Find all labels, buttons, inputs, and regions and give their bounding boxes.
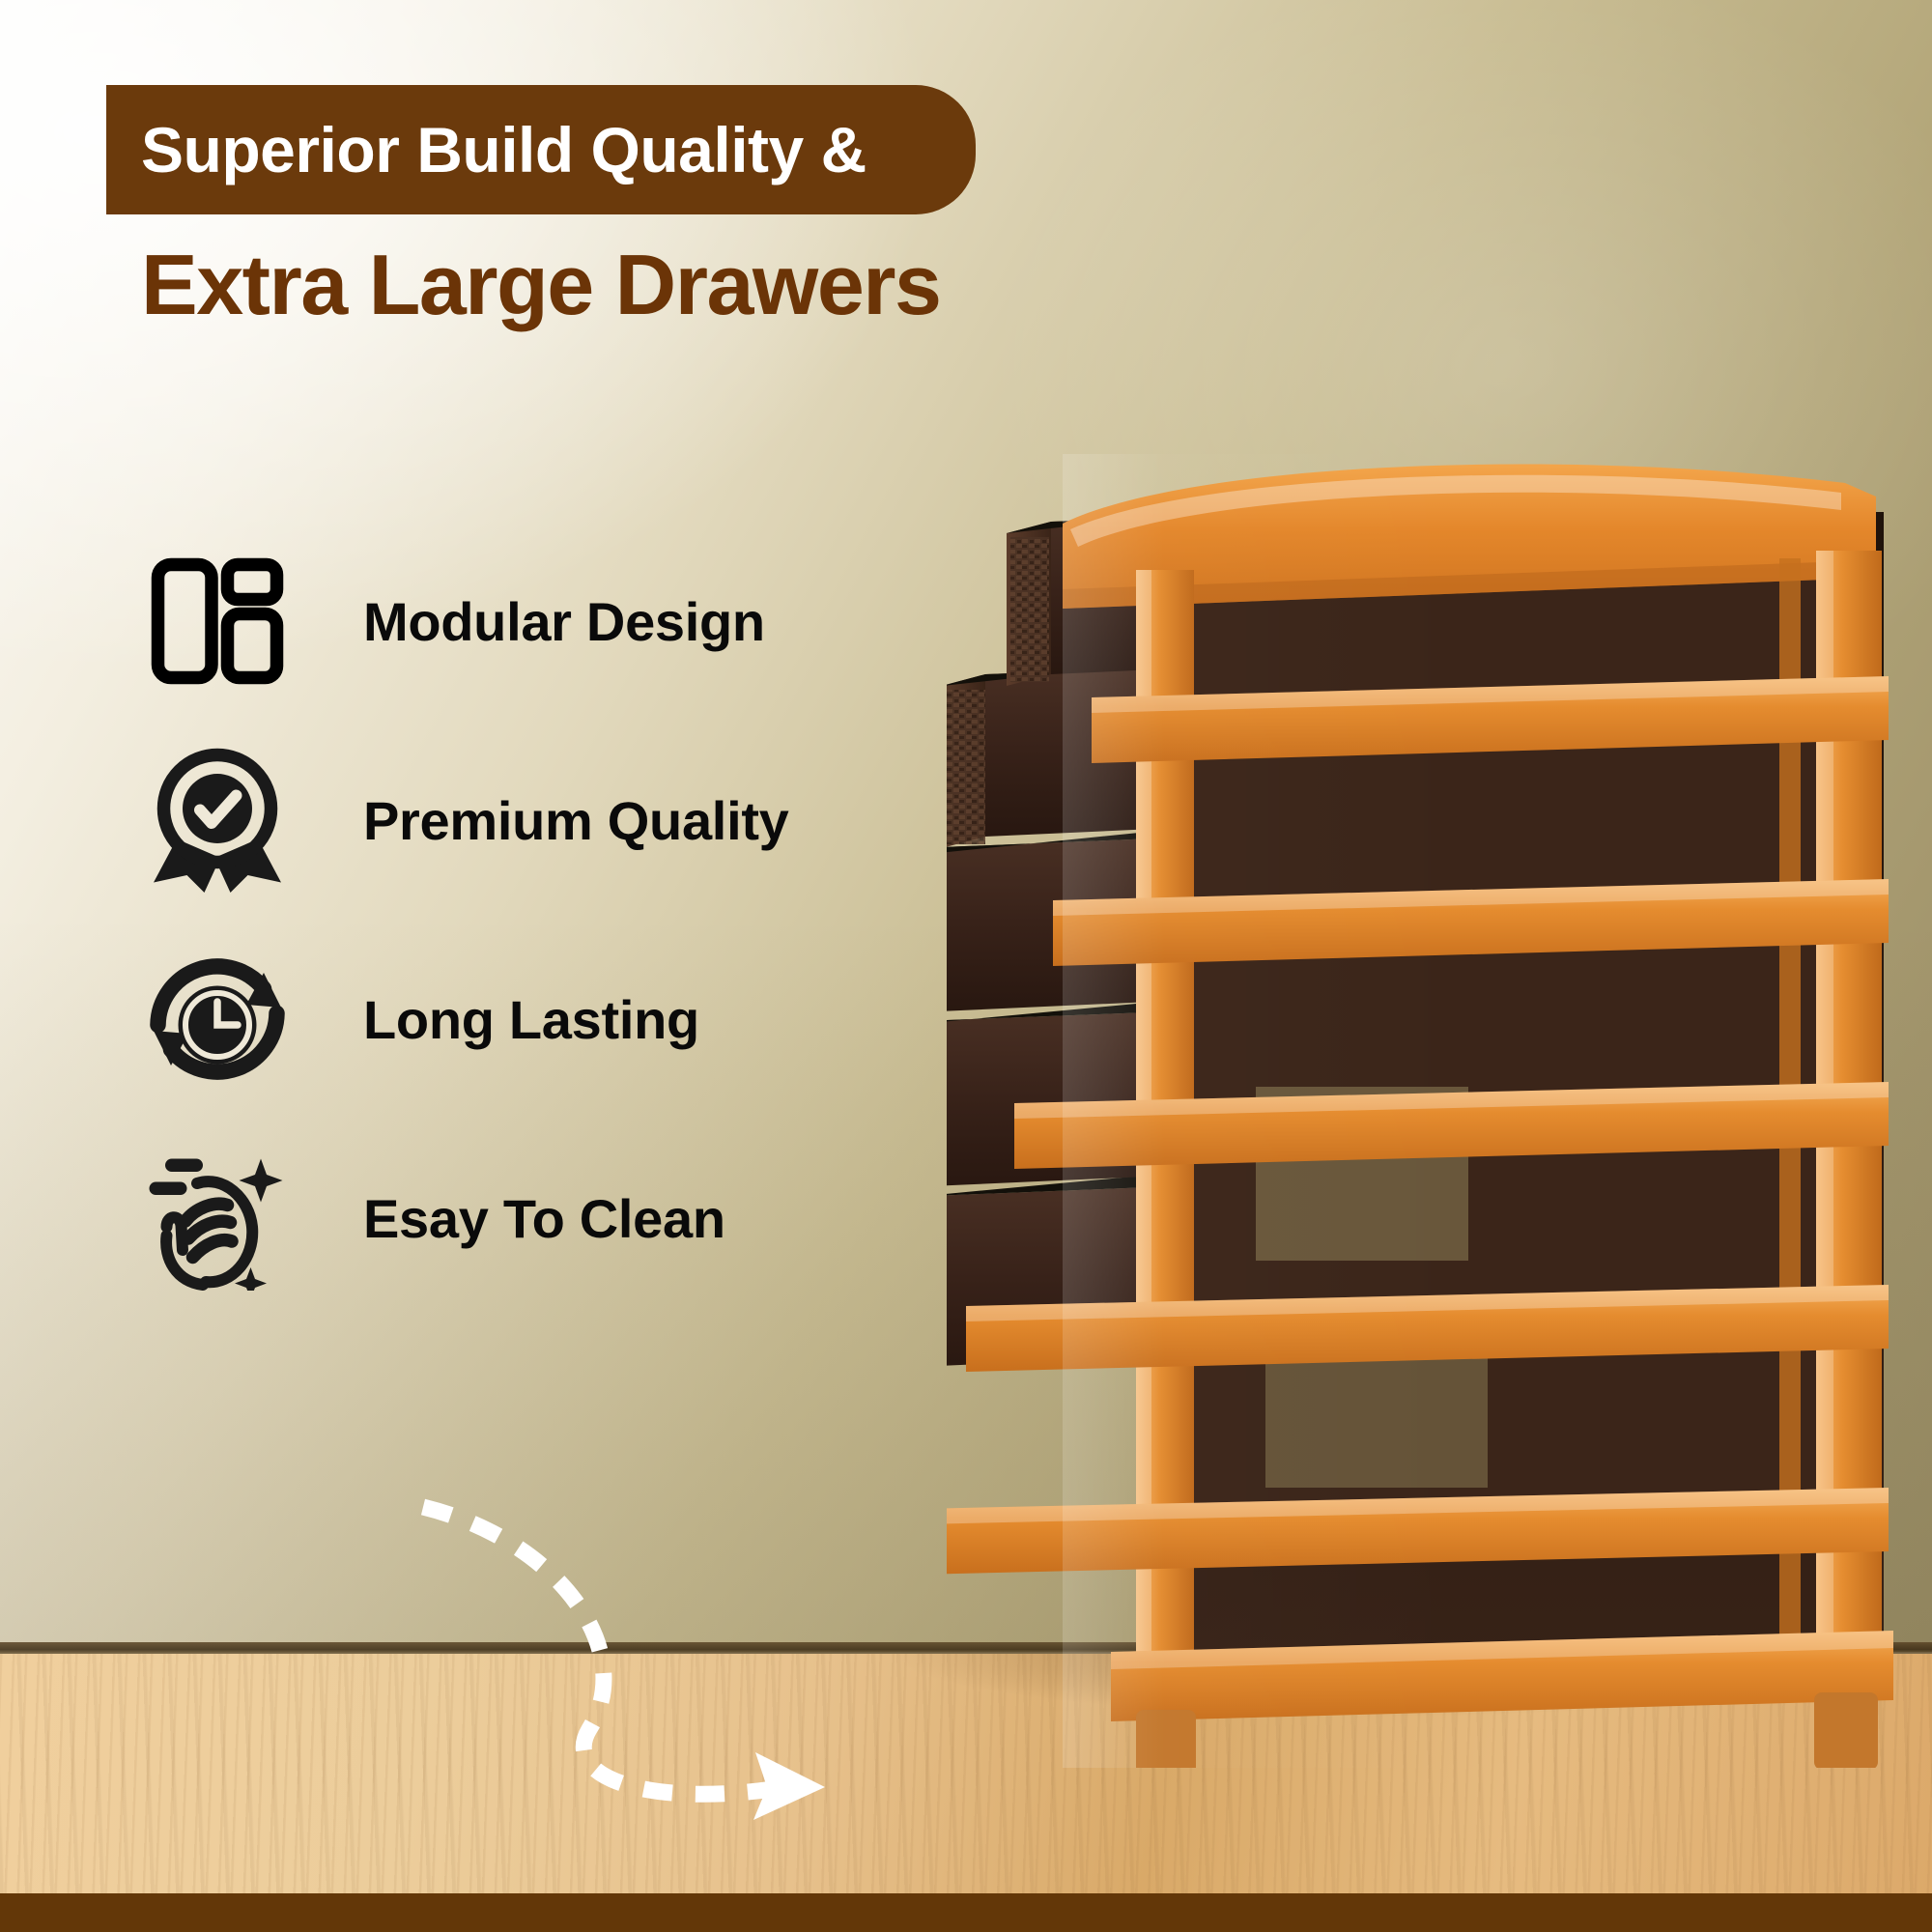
headline-banner-text: Superior Build Quality & <box>106 113 867 186</box>
feature-label-easy-to-clean: Esay To Clean <box>309 1187 725 1250</box>
promo-canvas: Superior Build Quality & Extra Large Dra… <box>0 0 1932 1932</box>
feature-item-modular-design: Modular Design <box>145 522 879 721</box>
footer-bar <box>0 1893 1932 1932</box>
feature-label-long-lasting: Long Lasting <box>309 988 699 1051</box>
clock-refresh-icon <box>145 937 309 1101</box>
feature-list: Modular Design Premium Quality <box>145 522 879 1318</box>
feature-label-premium-quality: Premium Quality <box>309 789 789 852</box>
badge-check-icon <box>145 738 309 902</box>
headline-banner: Superior Build Quality & <box>106 85 976 214</box>
headline-subtitle: Extra Large Drawers <box>141 236 940 334</box>
feature-item-long-lasting: Long Lasting <box>145 920 879 1119</box>
hand-wipe-sparkle-icon <box>145 1136 309 1300</box>
leg-right <box>1814 1692 1878 1768</box>
feature-item-premium-quality: Premium Quality <box>145 721 879 920</box>
feature-label-modular-design: Modular Design <box>309 590 765 653</box>
layout-grid-icon <box>145 539 309 703</box>
product-image <box>947 454 1932 1768</box>
feature-item-easy-to-clean: Esay To Clean <box>145 1119 879 1318</box>
